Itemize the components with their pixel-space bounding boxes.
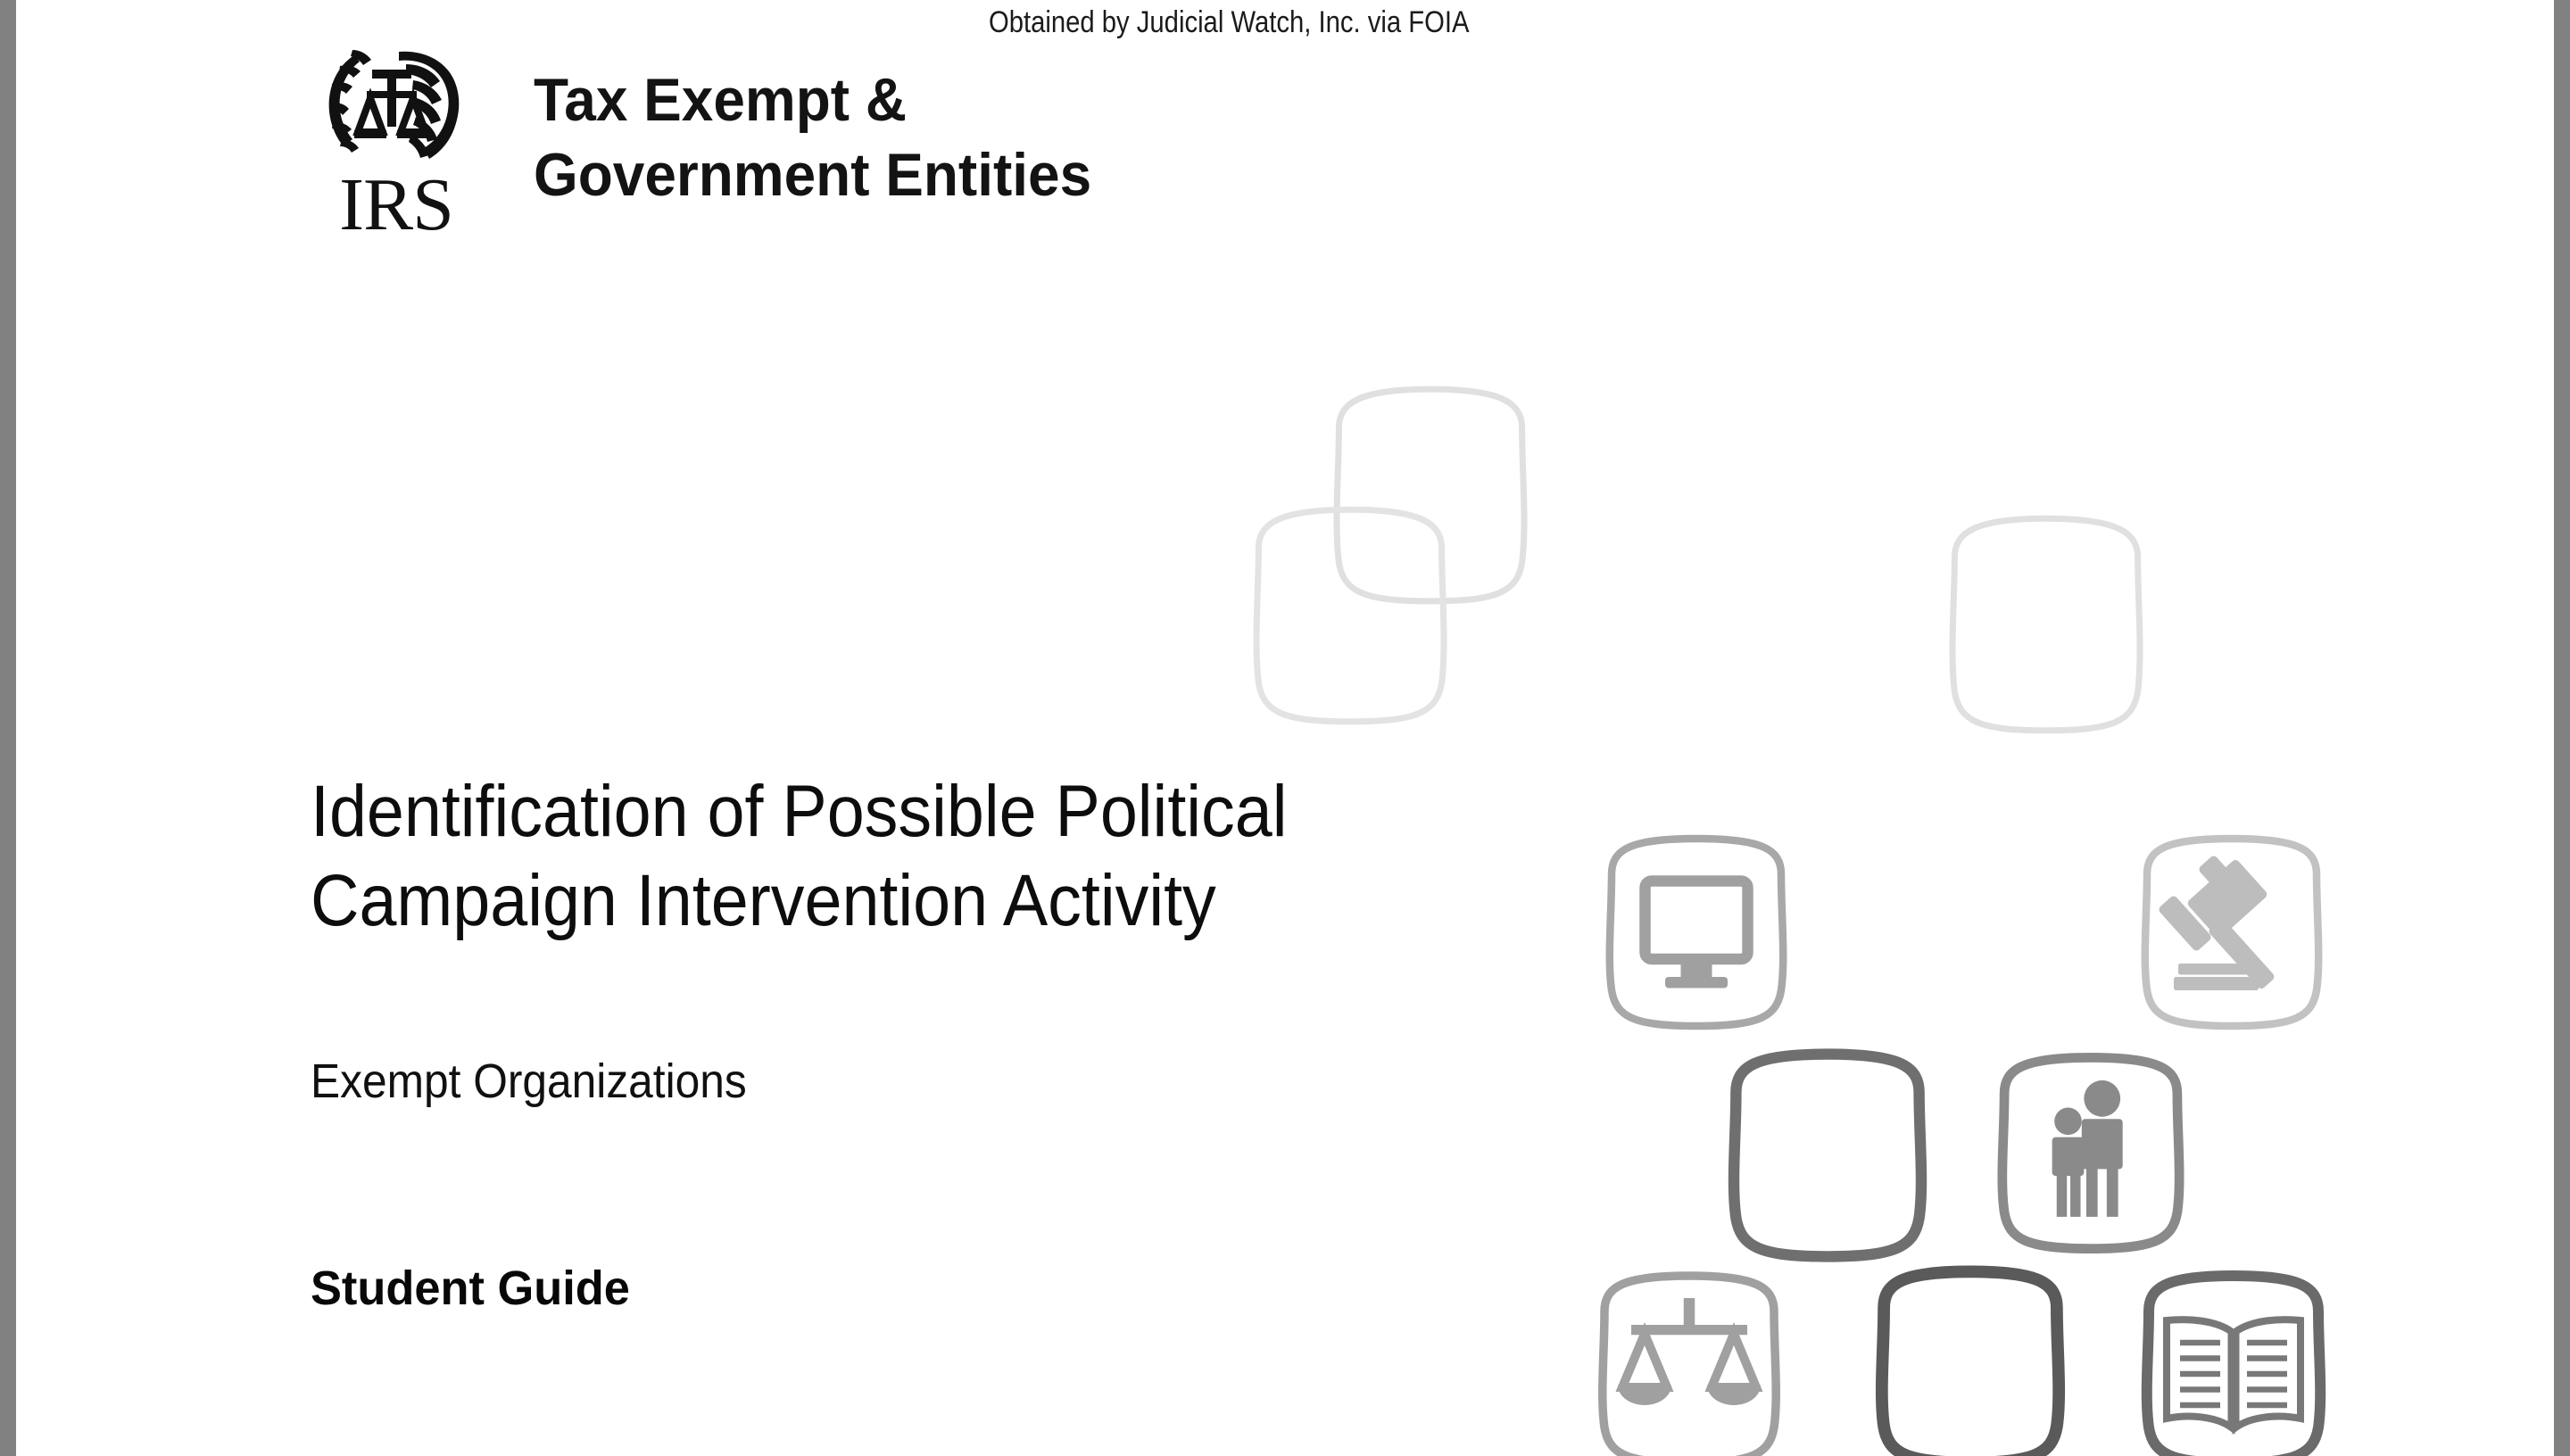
irs-eagle-scales-emblem-icon — [313, 41, 479, 175]
tile-family — [1961, 1039, 2220, 1267]
page-right-edge-band — [2554, 0, 2570, 1456]
book-icon — [2104, 1258, 2363, 1456]
division-name-line-1: Tax Exempt & — [534, 62, 1091, 137]
division-name-line-2: Government Entities — [534, 137, 1091, 212]
gavel-icon — [2102, 821, 2361, 1044]
family-icon — [1961, 1039, 2220, 1267]
tile-empty-mid — [1694, 1035, 1961, 1276]
document-kind-label: Student Guide — [311, 1260, 630, 1317]
scales-icon — [1560, 1258, 1819, 1456]
monitor-icon — [1567, 821, 1826, 1044]
document-subtitle: Exempt Organizations — [311, 1053, 747, 1110]
page-title: Identification of Possible Political Cam… — [311, 767, 1471, 946]
division-name: Tax Exempt & Government Entities — [534, 62, 1091, 212]
irs-wordmark: IRS — [339, 171, 453, 239]
page-left-edge-band — [0, 0, 16, 1456]
irs-logo-block: IRS Tax Exempt & Government Entities — [311, 41, 1127, 239]
tile-empty-bottom — [1836, 1253, 2104, 1456]
document-title-line-2: Campaign Intervention Activity — [311, 856, 1378, 946]
tile-monitor — [1567, 821, 1826, 1044]
decorative-icon-cluster — [1301, 375, 2554, 1456]
document-page: Obtained by Judicial Watch, Inc. via FOI… — [16, 0, 2554, 1456]
foia-disclosure-stamp: Obtained by Judicial Watch, Inc. via FOI… — [989, 4, 1469, 40]
irs-logo: IRS — [311, 41, 482, 239]
tile-book — [2104, 1258, 2363, 1456]
tile-empty-left — [1221, 495, 1480, 736]
tile-empty-right — [1917, 504, 2176, 745]
tile-gavel — [2102, 821, 2361, 1044]
tile-scales — [1560, 1258, 1819, 1456]
document-title-line-1: Identification of Possible Political — [311, 767, 1378, 856]
